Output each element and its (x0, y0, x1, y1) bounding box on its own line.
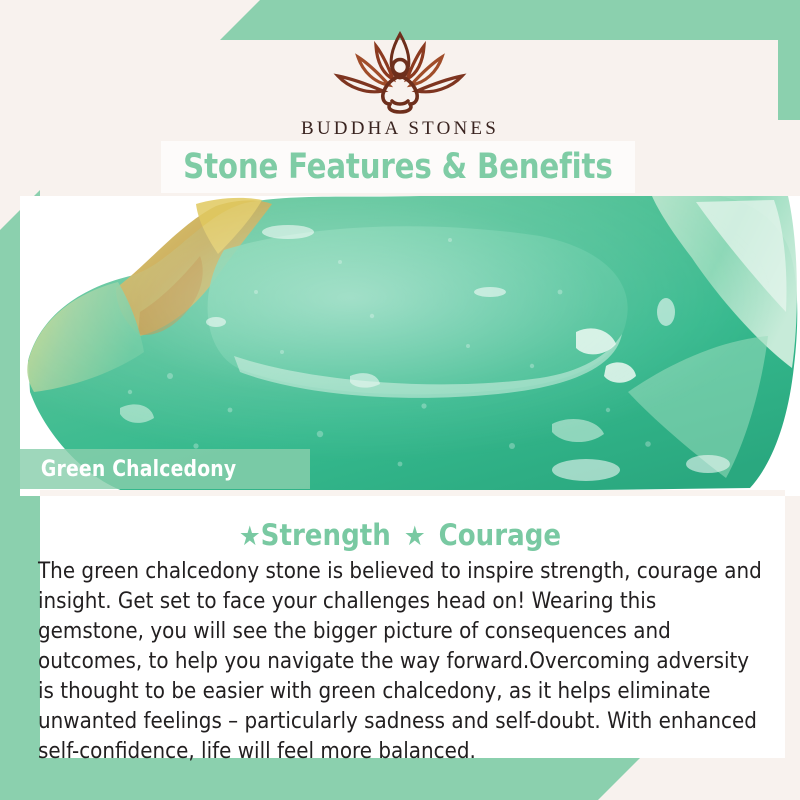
poster-root: BUDDHA STONES Stone Features & Benefits (0, 0, 800, 800)
brand-name: BUDDHA STONES (270, 118, 530, 140)
stone-name-badge: Green Chalcedony (20, 449, 310, 489)
headline-keyword-1: Strength (261, 518, 391, 552)
star-icon-1: ★ (239, 521, 261, 552)
headline-keyword-2: Courage (439, 518, 562, 552)
stone-name-label: Green Chalcedony (20, 457, 236, 482)
lotus-meditation-figure-icon (325, 24, 475, 116)
brand-logo: BUDDHA STONES (270, 24, 530, 140)
benefits-headline: ★Strength★Courage (0, 518, 800, 552)
benefits-description: The green chalcedony stone is believed t… (38, 556, 767, 766)
star-icon-2: ★ (404, 521, 426, 552)
title-banner: Stone Features & Benefits (161, 141, 635, 193)
page-title: Stone Features & Benefits (183, 147, 612, 187)
